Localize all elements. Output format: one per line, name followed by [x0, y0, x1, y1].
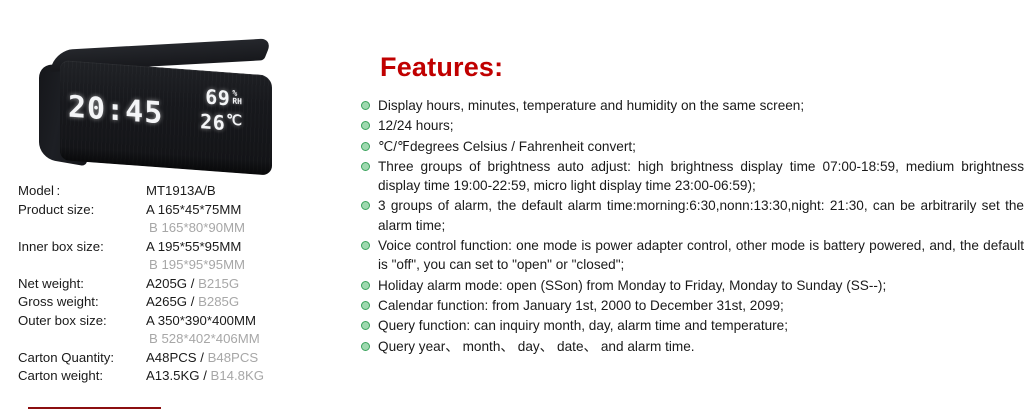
- spec-row: Carton Quantity:A48PCS / B48PCS: [18, 350, 338, 369]
- bullet-circle-icon: [361, 162, 370, 171]
- spec-value: A 195*55*95MM: [146, 239, 338, 254]
- features-panel: Features: Display hours, minutes, temper…: [358, 0, 1026, 415]
- spec-row: Model :MT1913A/B: [18, 183, 338, 202]
- bullet-circle-icon: [361, 301, 370, 310]
- spec-label: Inner box size:: [18, 239, 146, 254]
- feature-text: Holiday alarm mode: open (SSon) from Mon…: [378, 278, 886, 293]
- spec-value: MT1913A/B: [146, 183, 338, 198]
- spec-value-variant-a: A 195*55*95MM: [146, 239, 241, 254]
- feature-list-item: Holiday alarm mode: open (SSon) from Mon…: [358, 276, 1024, 295]
- feature-list-item: Display hours, minutes, temperature and …: [358, 96, 1024, 115]
- feature-list-item: Voice control function: one mode is powe…: [358, 236, 1024, 275]
- feature-list-item: ℃/℉degrees Celsius / Fahrenheit convert;: [358, 137, 1024, 156]
- product-photo: 20:45 69 % RH 26 ℃: [36, 48, 284, 173]
- led-humidity-row: 69 % RH: [200, 86, 242, 109]
- bullet-circle-icon: [361, 201, 370, 210]
- spec-value-variant-b: B48PCS: [208, 350, 259, 365]
- bullet-circle-icon: [361, 101, 370, 110]
- spec-row: Carton weight:A13.5KG / B14.8KG: [18, 368, 338, 387]
- spec-row: Gross weight:A265G / B285G: [18, 294, 338, 313]
- spec-value-variant-a: A265G: [146, 294, 187, 309]
- bullet-circle-icon: [361, 342, 370, 351]
- led-sensor-readouts: 69 % RH 26 ℃: [200, 86, 242, 134]
- feature-text: 12/24 hours;: [378, 118, 454, 133]
- feature-text: Three groups of brightness auto adjust: …: [378, 159, 1024, 193]
- spec-value-variant-a: A48PCS: [146, 350, 197, 365]
- feature-text: Voice control function: one mode is powe…: [378, 238, 1024, 272]
- spec-subvalue-variant-b: B 195*95*95MM: [146, 257, 245, 276]
- feature-list-item: Query function: can inquiry month, day, …: [358, 316, 1024, 335]
- spec-value-separator: /: [187, 294, 198, 309]
- feature-list-item: Query year、 month、 day、 date、 and alarm …: [358, 337, 1024, 356]
- spec-value-variant-a: A 165*45*75MM: [146, 202, 241, 217]
- led-humidity-rh-label: RH: [232, 97, 242, 107]
- feature-text: Calendar function: from January 1st, 200…: [378, 298, 784, 313]
- spec-row: Outer box size:A 350*390*400MM: [18, 313, 338, 332]
- spec-value-variant-a: A205G: [146, 276, 187, 291]
- spec-label: Carton weight:: [18, 368, 146, 383]
- spec-subvalue-variant-b: B 528*402*406MM: [146, 331, 260, 350]
- spec-row: Inner box size:A 195*55*95MM: [18, 239, 338, 258]
- feature-text: ℃/℉degrees Celsius / Fahrenheit convert;: [378, 139, 636, 154]
- led-temperature-row: 26 ℃: [200, 111, 242, 134]
- red-divider-line: [28, 407, 161, 409]
- spec-label: Outer box size:: [18, 313, 146, 328]
- spec-subrow: B 165*80*90MM: [18, 220, 338, 239]
- spec-subvalue-variant-b: B 165*80*90MM: [146, 220, 245, 239]
- spec-value: A 350*390*400MM: [146, 313, 338, 328]
- led-temperature-unit: ℃: [226, 113, 242, 128]
- led-humidity-value: 69: [205, 87, 230, 109]
- spec-value: A13.5KG / B14.8KG: [146, 368, 338, 383]
- spec-value-variant-b: B215G: [198, 276, 239, 291]
- spec-row: Product size:A 165*45*75MM: [18, 202, 338, 221]
- spec-label: Model :: [18, 183, 146, 198]
- spec-subrow-spacer: [18, 220, 146, 239]
- spec-subrow-spacer: [18, 257, 146, 276]
- clock-body: 20:45 69 % RH 26 ℃: [36, 48, 284, 173]
- spec-value: A48PCS / B48PCS: [146, 350, 338, 365]
- feature-text: 3 groups of alarm, the default alarm tim…: [378, 198, 1024, 232]
- specifications-table: Model :MT1913A/BProduct size:A 165*45*75…: [18, 183, 338, 387]
- spec-value: A265G / B285G: [146, 294, 338, 309]
- spec-subrow-spacer: [18, 331, 146, 350]
- feature-list-item: Calendar function: from January 1st, 200…: [358, 296, 1024, 315]
- spec-value-variant-a: MT1913A/B: [146, 183, 216, 198]
- spec-label: Carton Quantity:: [18, 350, 146, 365]
- spec-value: A 165*45*75MM: [146, 202, 338, 217]
- led-humidity-unit: % RH: [232, 90, 242, 107]
- feature-text: Display hours, minutes, temperature and …: [378, 98, 804, 113]
- spec-subrow: B 195*95*95MM: [18, 257, 338, 276]
- feature-text: Query function: can inquiry month, day, …: [378, 318, 788, 333]
- feature-list-item: 12/24 hours;: [358, 116, 1024, 135]
- spec-value-separator: /: [187, 276, 198, 291]
- spec-label: Gross weight:: [18, 294, 146, 309]
- feature-list-item: 3 groups of alarm, the default alarm tim…: [358, 196, 1024, 235]
- spec-value: A205G / B215G: [146, 276, 338, 291]
- spec-value-separator: /: [200, 368, 211, 383]
- spec-label: Product size:: [18, 202, 146, 217]
- feature-list-item: Three groups of brightness auto adjust: …: [358, 157, 1024, 196]
- spec-label: Net weight:: [18, 276, 146, 291]
- bullet-circle-icon: [361, 281, 370, 290]
- led-display: 20:45 69 % RH 26 ℃: [62, 74, 244, 149]
- spec-subrow: B 528*402*406MM: [18, 331, 338, 350]
- spec-value-variant-a: A13.5KG: [146, 368, 200, 383]
- spec-value-variant-b: B285G: [198, 294, 239, 309]
- features-heading: Features:: [380, 52, 503, 83]
- bullet-circle-icon: [361, 321, 370, 330]
- feature-text: Query year、 month、 day、 date、 and alarm …: [378, 339, 695, 354]
- product-info-column: 20:45 69 % RH 26 ℃ Model :MT19: [0, 0, 348, 415]
- bullet-circle-icon: [361, 241, 370, 250]
- spec-value-separator: /: [197, 350, 208, 365]
- led-temperature-value: 26: [200, 111, 225, 133]
- led-time-readout: 20:45: [68, 92, 163, 129]
- features-list: Display hours, minutes, temperature and …: [358, 96, 1024, 357]
- bullet-circle-icon: [361, 121, 370, 130]
- spec-value-variant-b: B14.8KG: [211, 368, 265, 383]
- spec-row: Net weight:A205G / B215G: [18, 276, 338, 295]
- spec-value-variant-a: A 350*390*400MM: [146, 313, 256, 328]
- bullet-circle-icon: [361, 142, 370, 151]
